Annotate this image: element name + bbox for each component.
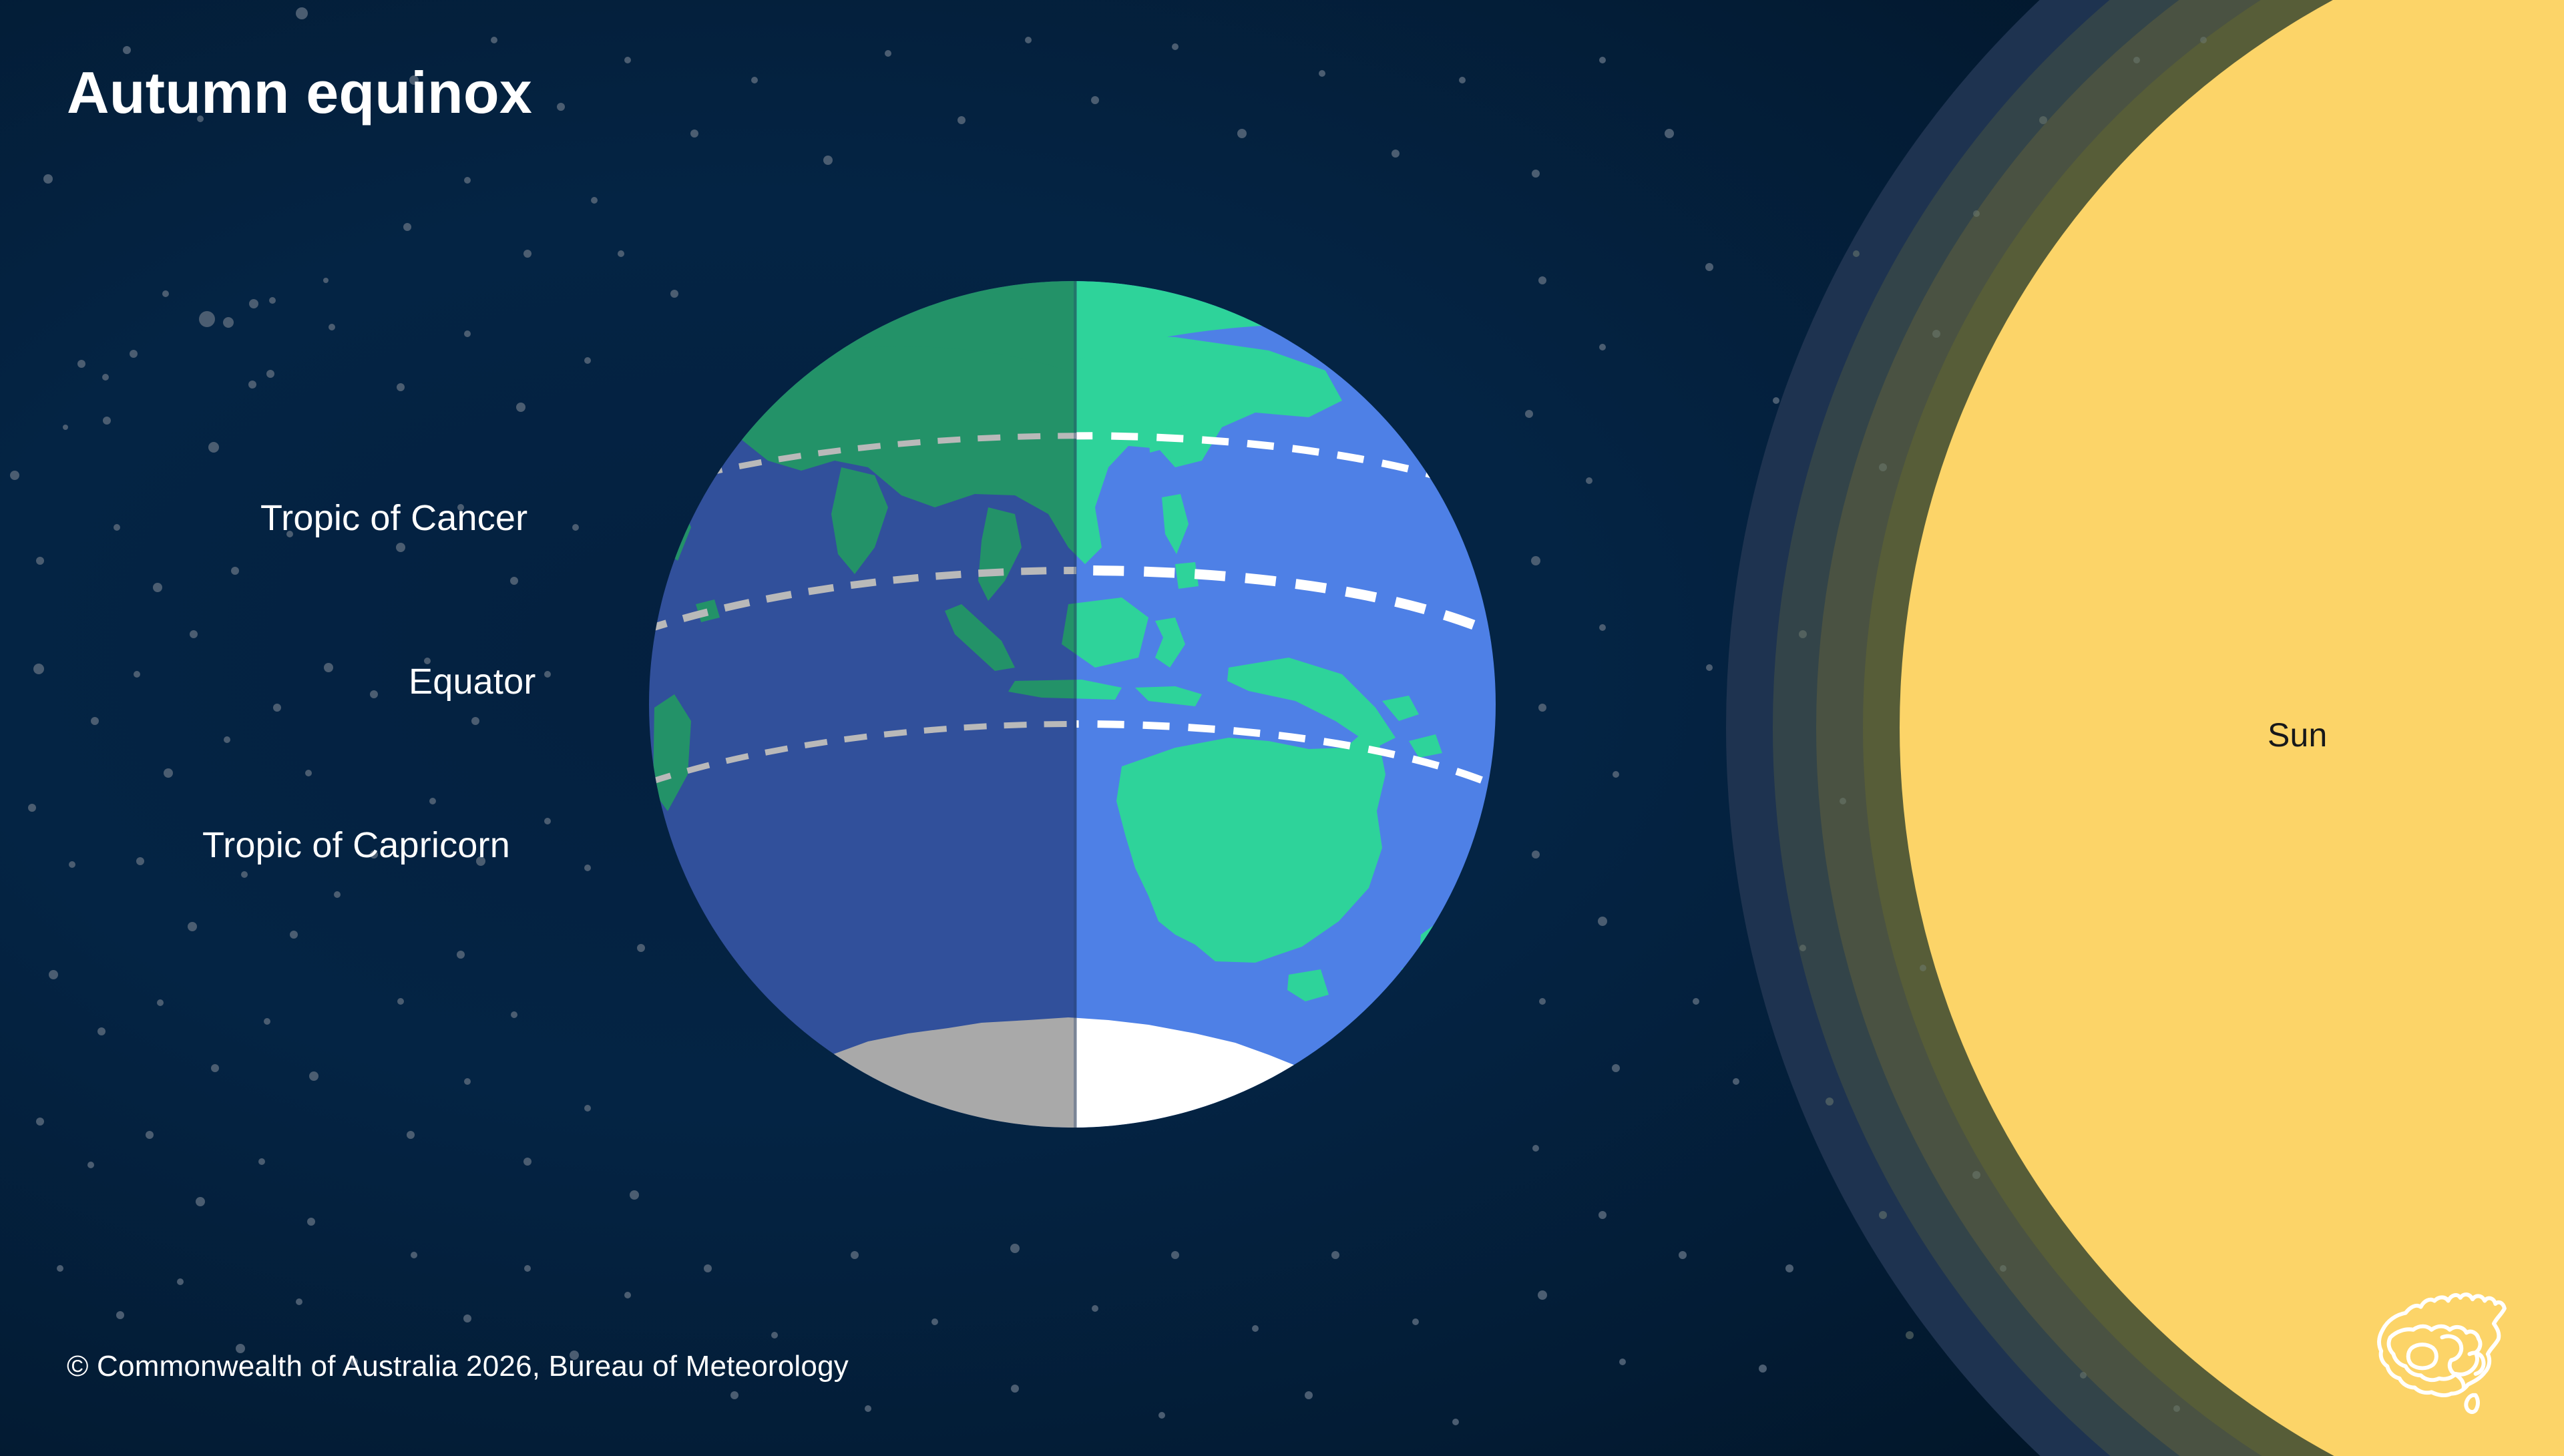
label-tropic-of-cancer: Tropic of Cancer <box>260 497 527 539</box>
page-title: Autumn equinox <box>67 63 532 122</box>
scene-svg <box>0 0 2564 1456</box>
equinox-illustration-canvas: Autumn equinox Tropic of Cancer Equator … <box>0 0 2564 1456</box>
label-equator: Equator <box>409 661 536 702</box>
label-tropic-of-capricorn: Tropic of Capricorn <box>202 824 510 866</box>
footer-copyright: © Commonwealth of Australia 2026, Bureau… <box>67 1350 849 1383</box>
earth-terminator-line <box>1074 254 1077 1162</box>
label-sun: Sun <box>2268 716 2328 754</box>
